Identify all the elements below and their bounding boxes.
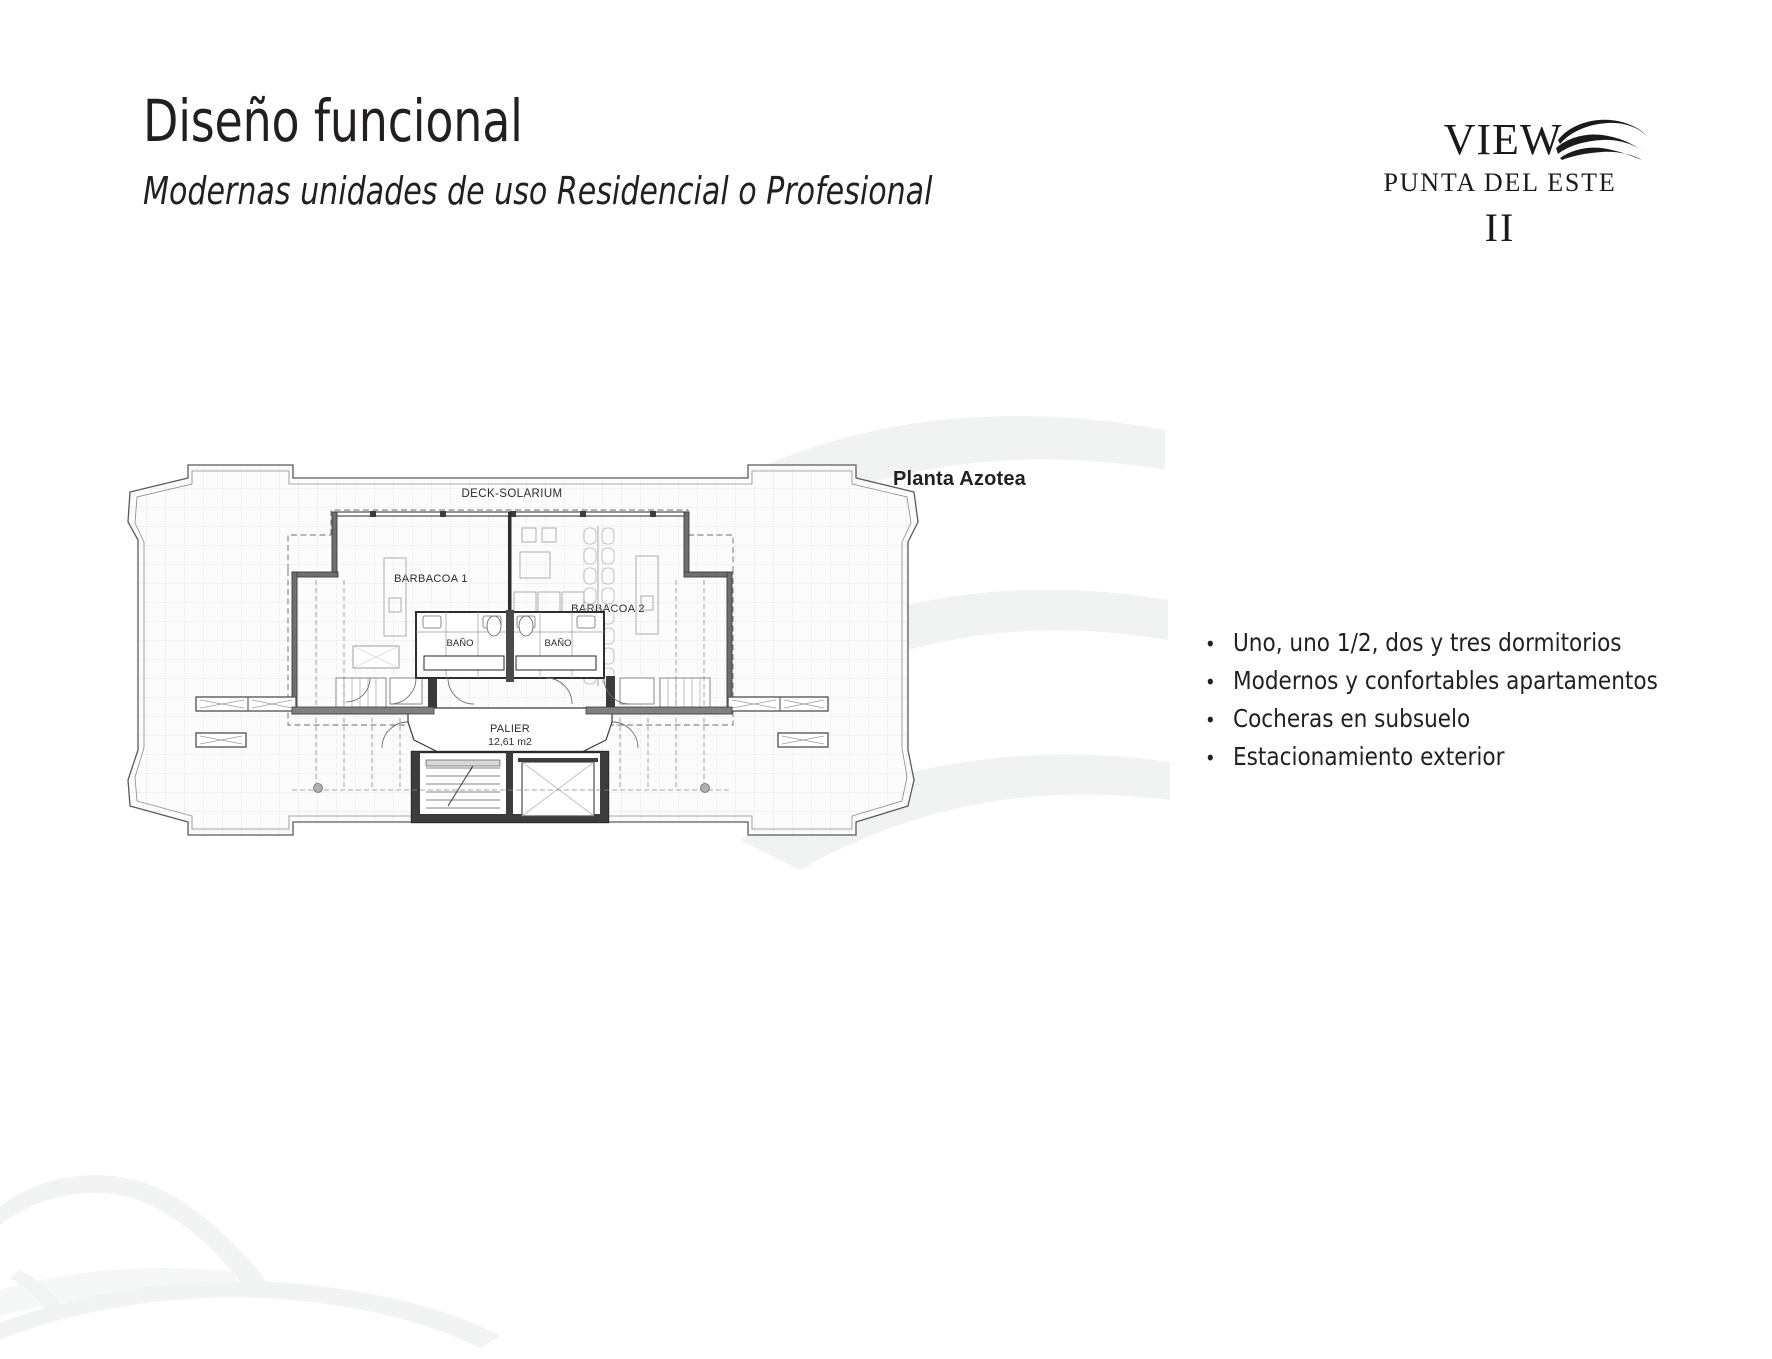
bathrooms-group: BAÑO BAÑO bbox=[416, 610, 604, 682]
watermark-wave-bottom-2 bbox=[0, 1268, 236, 1322]
palier-area-value: 12,61 m2 bbox=[488, 736, 532, 748]
page-header: Diseño funcional Modernas unidades de us… bbox=[143, 92, 1040, 210]
east-wall-vert bbox=[727, 572, 732, 712]
central-divider-wall bbox=[508, 512, 512, 612]
list-item: • Cocheras en subsuelo bbox=[1205, 704, 1745, 734]
list-item: • Modernos y confortables apartamentos bbox=[1205, 666, 1745, 696]
bullet-icon: • bbox=[1205, 632, 1233, 656]
list-item: • Estacionamiento exterior bbox=[1205, 742, 1745, 772]
watermark-wave-bottom-3 bbox=[10, 1270, 62, 1312]
feature-text: Estacionamiento exterior bbox=[1233, 742, 1504, 772]
brand-numeral: II bbox=[1348, 204, 1658, 251]
page-subtitle: Modernas unidades de uso Residencial o P… bbox=[143, 150, 932, 210]
watermark-wave-bottom-arc bbox=[0, 1175, 268, 1292]
bullet-icon: • bbox=[1205, 670, 1233, 694]
feature-text: Modernos y confortables apartamentos bbox=[1233, 666, 1658, 696]
palier-area: PALIER 12,61 m2 bbox=[408, 708, 612, 752]
bullet-icon: • bbox=[1205, 746, 1233, 770]
brand-wordmark: View bbox=[1444, 100, 1563, 166]
feature-text: Cocheras en subsuelo bbox=[1233, 704, 1470, 734]
east-wall bbox=[684, 512, 689, 575]
bench-east-short bbox=[778, 733, 828, 747]
list-item: • Uno, uno 1/2, dos y tres dormitorios bbox=[1205, 628, 1745, 658]
plan-caption: Planta Azotea bbox=[893, 468, 1026, 491]
deck-solarium-top-label: DECK-SOLARIUM bbox=[461, 488, 562, 500]
watermark-wave-bottom-1 bbox=[0, 1281, 500, 1348]
wave-swoosh-icon bbox=[1556, 112, 1648, 160]
elevator-cab bbox=[518, 758, 598, 816]
west-wall bbox=[332, 512, 337, 575]
bath-divider-pillar bbox=[506, 610, 514, 682]
east-wall-lower bbox=[684, 572, 730, 577]
bench-west-long bbox=[196, 697, 296, 711]
brand-location: Punta del Este bbox=[1348, 168, 1658, 198]
barbacoa-1-label: BARBACOA 1 bbox=[394, 573, 468, 585]
brand-logo: View Punta del Este II bbox=[1348, 100, 1658, 251]
palier-label: PALIER bbox=[490, 723, 530, 735]
west-wall-lower bbox=[292, 572, 338, 577]
page-title: Diseño funcional bbox=[143, 92, 932, 150]
bullet-icon: • bbox=[1205, 708, 1233, 732]
bench-east-long bbox=[728, 697, 828, 711]
features-list: • Uno, uno 1/2, dos y tres dormitorios •… bbox=[1205, 628, 1745, 780]
feature-text: Uno, uno 1/2, dos y tres dormitorios bbox=[1233, 628, 1622, 658]
floor-plan-drawing: DECK-SOLARIUM DECK-SOLARIUM BARB bbox=[108, 450, 938, 850]
bano-right-label: BAÑO bbox=[545, 638, 572, 649]
bano-left-label: BAÑO bbox=[447, 638, 474, 649]
core-stair-elevator bbox=[412, 752, 608, 822]
bench-west-short bbox=[196, 733, 246, 747]
west-wall-vert bbox=[292, 572, 297, 712]
brand-wordmark-row: View bbox=[1348, 100, 1658, 172]
